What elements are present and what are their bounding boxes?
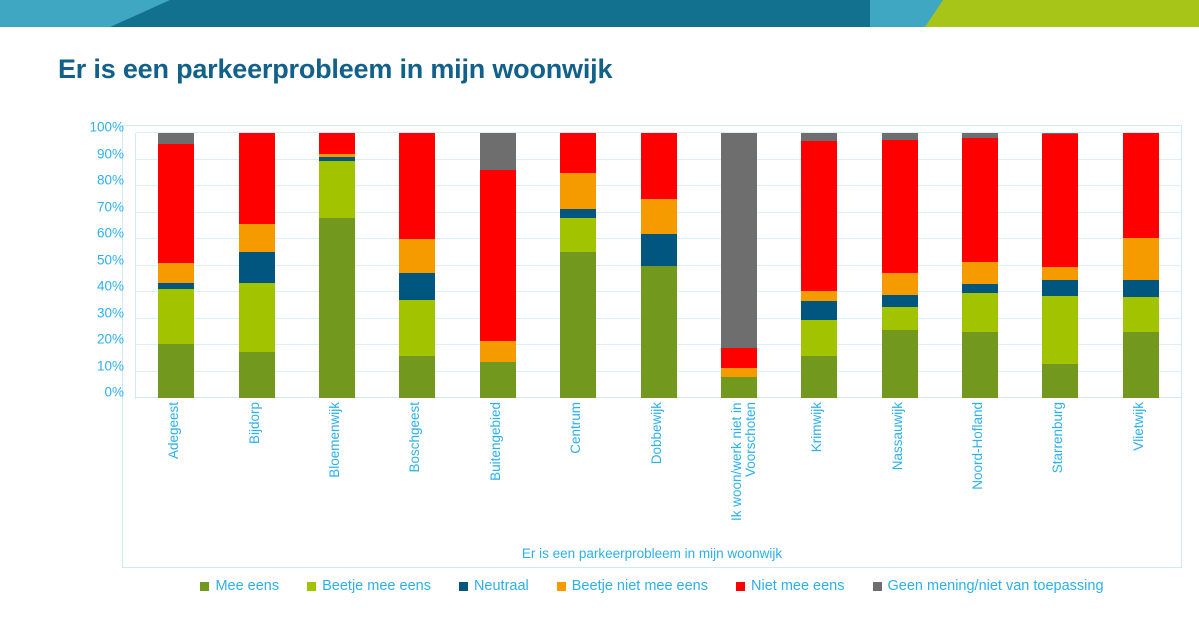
bar-segment[interactable] <box>239 252 275 282</box>
bar-segment[interactable] <box>641 133 677 199</box>
bar-segment[interactable] <box>1123 297 1159 331</box>
bar-segment[interactable] <box>641 266 677 399</box>
bar-segment[interactable] <box>721 133 757 348</box>
legend-label: Neutraal <box>474 578 529 594</box>
bar-segment[interactable] <box>560 218 596 252</box>
bar-stack[interactable] <box>1123 133 1159 398</box>
bar-segment[interactable] <box>962 133 998 138</box>
bar-stack[interactable] <box>641 133 677 398</box>
bar-segment[interactable] <box>399 273 435 300</box>
legend-label: Beetje niet mee eens <box>572 578 708 594</box>
legend-label: Beetje mee eens <box>322 578 431 594</box>
bar-segment[interactable] <box>399 356 435 398</box>
bar-segment[interactable] <box>801 141 837 291</box>
bar-segment[interactable] <box>158 263 194 283</box>
legend-label: Geen mening/niet van toepassing <box>888 578 1104 594</box>
bar-stack[interactable] <box>158 133 194 398</box>
bar-segment[interactable] <box>158 283 194 290</box>
y-axis-tick-label: 90% <box>97 146 124 161</box>
bar-segment[interactable] <box>801 320 837 356</box>
x-axis-tick-label: Nassauwijk <box>891 402 905 470</box>
bar-segment[interactable] <box>158 133 194 144</box>
bar-segment[interactable] <box>882 330 918 398</box>
bar-stack[interactable] <box>560 133 596 398</box>
legend-item[interactable]: Geen mening/niet van toepassing <box>873 578 1104 594</box>
bar-segment[interactable] <box>399 133 435 239</box>
x-axis-tick-label: Centrum <box>569 402 583 454</box>
bar-segment[interactable] <box>721 368 757 377</box>
y-axis-tick-label: 0% <box>104 385 124 400</box>
bar-segment[interactable] <box>1042 364 1078 398</box>
bar-segment[interactable] <box>962 138 998 261</box>
y-axis: 0%10%20%30%40%50%60%70%80%90%100% <box>60 133 130 398</box>
bar-segment[interactable] <box>1042 134 1078 267</box>
bar-segment[interactable] <box>1042 296 1078 364</box>
bar-segment[interactable] <box>1123 280 1159 297</box>
bar-segment[interactable] <box>1123 332 1159 398</box>
bar-stack[interactable] <box>1042 133 1078 398</box>
bar-segment[interactable] <box>801 291 837 302</box>
bar-segment[interactable] <box>560 209 596 218</box>
bar-segment[interactable] <box>721 348 757 368</box>
legend-item[interactable]: Beetje mee eens <box>307 578 431 594</box>
bar-segment[interactable] <box>882 307 918 331</box>
y-axis-tick-label: 70% <box>97 199 124 214</box>
bar-stack[interactable] <box>801 133 837 398</box>
bar-segment[interactable] <box>801 133 837 141</box>
page-title: Er is een parkeerprobleem in mijn woonwi… <box>58 54 612 85</box>
bar-segment[interactable] <box>641 199 677 233</box>
legend-item[interactable]: Niet mee eens <box>736 578 845 594</box>
bar-stack[interactable] <box>319 133 355 398</box>
bar-segment[interactable] <box>560 252 596 398</box>
bar-stack[interactable] <box>399 133 435 398</box>
bar-segment[interactable] <box>962 332 998 398</box>
x-axis-tick-label: Dobbewijk <box>650 402 664 464</box>
legend-swatch-icon <box>200 582 209 591</box>
y-axis-tick-label: 60% <box>97 226 124 241</box>
legend-swatch-icon <box>307 582 316 591</box>
x-axis-tick-label: Krimwijk <box>810 402 824 452</box>
x-axis-tick-label: Vlietwijk <box>1132 402 1146 451</box>
banner-band-dark-teal <box>110 0 950 27</box>
x-axis-category-labels: AdegeestBijdorpBloemenwijkBoschgeestBuit… <box>136 402 1181 542</box>
bar-segment[interactable] <box>882 140 918 274</box>
plot-area <box>136 133 1181 398</box>
bar-segment[interactable] <box>480 341 516 362</box>
x-axis-tick-label: Boschgeest <box>408 402 422 473</box>
bar-segment[interactable] <box>319 154 355 157</box>
bar-segment[interactable] <box>1042 280 1078 296</box>
top-banner <box>0 0 1199 27</box>
bar-segment[interactable] <box>1123 238 1159 280</box>
bar-segment[interactable] <box>480 362 516 398</box>
x-axis-title: Er is een parkeerprobleem in mijn woonwi… <box>122 546 1182 561</box>
bar-segment[interactable] <box>962 293 998 331</box>
legend-swatch-icon <box>873 582 882 591</box>
x-axis-tick-label: Buitengebied <box>489 402 503 481</box>
bar-segment[interactable] <box>239 224 275 252</box>
bar-stack[interactable] <box>962 133 998 398</box>
y-axis-tick-label: 10% <box>97 358 124 373</box>
bar-segment[interactable] <box>399 239 435 273</box>
y-axis-tick-label: 100% <box>89 120 124 135</box>
y-axis-tick-label: 80% <box>97 173 124 188</box>
bar-segment[interactable] <box>480 133 516 170</box>
bar-segment[interactable] <box>1042 133 1078 134</box>
legend-item[interactable]: Mee eens <box>200 578 279 594</box>
bar-segment[interactable] <box>319 218 355 398</box>
y-axis-tick-label: 50% <box>97 252 124 267</box>
bar-stack[interactable] <box>480 133 516 398</box>
legend-swatch-icon <box>459 582 468 591</box>
legend-label: Mee eens <box>215 578 279 594</box>
bar-segment[interactable] <box>641 234 677 266</box>
y-axis-tick-label: 30% <box>97 305 124 320</box>
bar-segment[interactable] <box>158 144 194 263</box>
bar-stack[interactable] <box>721 133 757 398</box>
bar-segment[interactable] <box>480 170 516 341</box>
bar-segment[interactable] <box>158 344 194 398</box>
bar-segment[interactable] <box>962 262 998 285</box>
legend-item[interactable]: Beetje niet mee eens <box>557 578 708 594</box>
bar-segment[interactable] <box>801 356 837 398</box>
bar-segment[interactable] <box>319 157 355 161</box>
legend-swatch-icon <box>557 582 566 591</box>
y-axis-tick-label: 40% <box>97 279 124 294</box>
legend-label: Niet mee eens <box>751 578 845 594</box>
bar-segment[interactable] <box>399 300 435 356</box>
legend-swatch-icon <box>736 582 745 591</box>
bar-segment[interactable] <box>962 284 998 293</box>
bar-segment[interactable] <box>239 352 275 398</box>
bar-segment[interactable] <box>1042 267 1078 280</box>
bar-segment[interactable] <box>158 289 194 343</box>
bar-segment[interactable] <box>882 295 918 307</box>
x-axis-tick-label: Ik woon/werk niet in Voorschoten <box>730 402 758 532</box>
bar-stack[interactable] <box>882 133 918 398</box>
bar-segment[interactable] <box>882 273 918 294</box>
x-axis-tick-label: Bijdorp <box>248 402 262 444</box>
chart-legend: Mee eensBeetje mee eensNeutraalBeetje ni… <box>122 578 1182 594</box>
bar-segment[interactable] <box>882 133 918 140</box>
x-axis-tick-label: Starrenburg <box>1051 402 1065 473</box>
bar-segment[interactable] <box>239 133 275 224</box>
bar-segment[interactable] <box>801 301 837 320</box>
x-axis-tick-label: Noord-Hofland <box>971 402 985 490</box>
legend-item[interactable]: Neutraal <box>459 578 529 594</box>
x-axis-tick-label: Adegeest <box>167 402 181 459</box>
bar-segment[interactable] <box>560 133 596 173</box>
banner-band-green <box>925 0 1199 27</box>
bar-segment[interactable] <box>319 133 355 154</box>
bar-segment[interactable] <box>319 161 355 218</box>
x-axis-tick-label: Bloemenwijk <box>328 402 342 478</box>
bar-segment[interactable] <box>239 283 275 352</box>
y-axis-tick-label: 20% <box>97 332 124 347</box>
bar-segment[interactable] <box>721 377 757 398</box>
bar-stack[interactable] <box>239 133 275 398</box>
bar-segment[interactable] <box>560 173 596 209</box>
bar-segment[interactable] <box>1123 133 1159 238</box>
